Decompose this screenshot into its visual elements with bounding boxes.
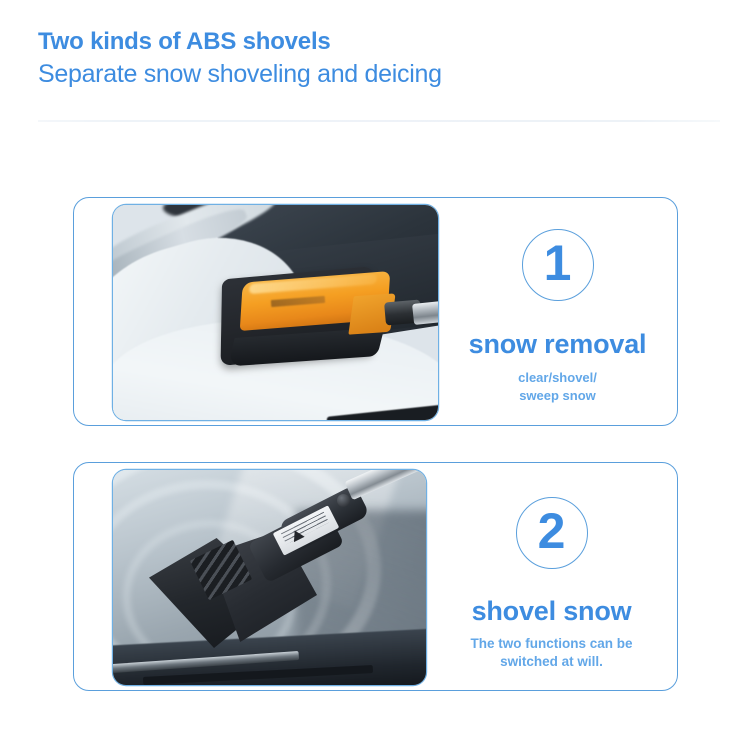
feature-caption-2: The two functions can be switched at wil…: [470, 635, 632, 671]
feature-card-snow-removal: 1 snow removal clear/shovel/ sweep snow: [73, 197, 678, 426]
divider: [38, 120, 720, 122]
step-number-2: 2: [538, 506, 566, 556]
feature-text-shovel-snow: 2 shovel snow The two functions can be s…: [426, 463, 677, 690]
feature-caption-1-line2: sweep snow: [518, 387, 597, 405]
heading-block: Two kinds of ABS shovels Separate snow s…: [38, 27, 698, 90]
scraper-pole-knob: [337, 494, 350, 507]
feature-title-1: snow removal: [469, 329, 647, 360]
step-number-1: 1: [544, 238, 572, 288]
product-photo-snow-removal: [113, 205, 438, 420]
feature-text-snow-removal: 1 snow removal clear/shovel/ sweep snow: [438, 198, 677, 425]
feature-title-2: shovel snow: [472, 596, 632, 627]
feature-caption-1: clear/shovel/ sweep snow: [518, 369, 597, 404]
product-photo-shovel-snow: [113, 470, 426, 685]
feature-caption-2-line1: The two functions can be: [470, 635, 632, 653]
feature-card-shovel-snow: 2 shovel snow The two functions can be s…: [73, 462, 678, 691]
page-subtitle: Separate snow shoveling and deicing: [38, 58, 698, 90]
feature-caption-2-line2: switched at will.: [470, 653, 632, 671]
step-number-badge-1: 1: [522, 229, 594, 301]
step-number-badge-2: 2: [516, 497, 588, 569]
feature-caption-1-line1: clear/shovel/: [518, 369, 597, 387]
page-title: Two kinds of ABS shovels: [38, 27, 698, 56]
